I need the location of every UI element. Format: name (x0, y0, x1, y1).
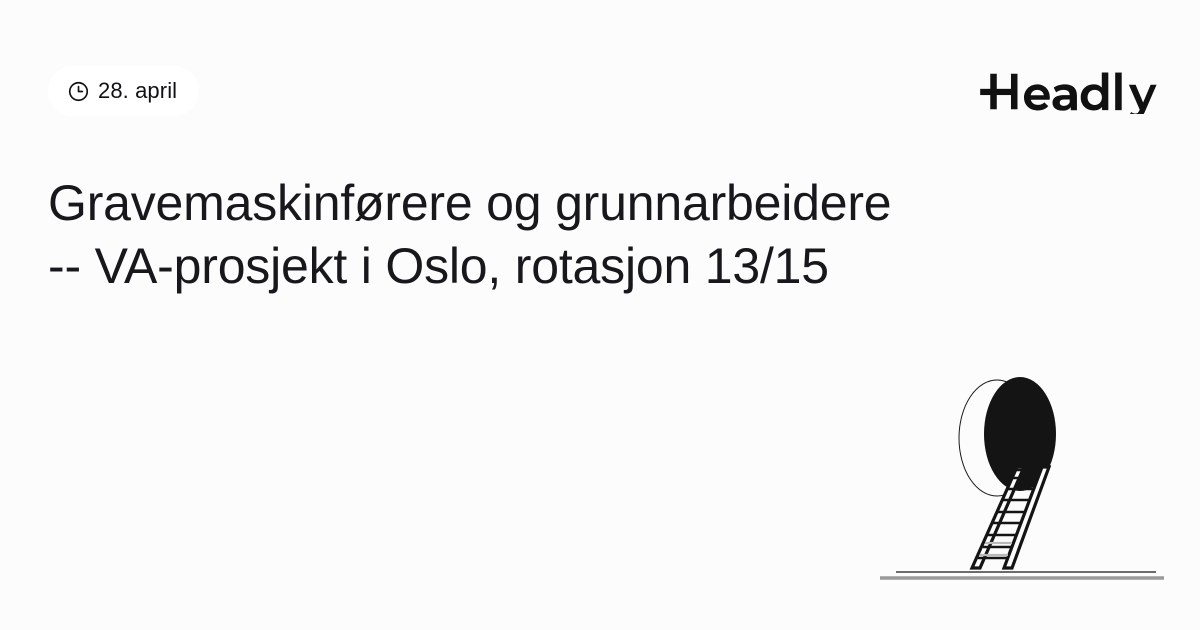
clock-icon (68, 81, 89, 102)
date-label: 28. april (98, 80, 177, 102)
article-share-card: 28. april (0, 0, 1200, 630)
date-badge: 28. april (48, 66, 199, 116)
card-header: 28. april (48, 62, 1160, 120)
headly-logo[interactable] (980, 66, 1158, 116)
page-title: Gravemaskinførere og grunnarbeidere -- V… (48, 172, 1138, 298)
ladder-into-dark-hole-illustration (856, 372, 1176, 600)
